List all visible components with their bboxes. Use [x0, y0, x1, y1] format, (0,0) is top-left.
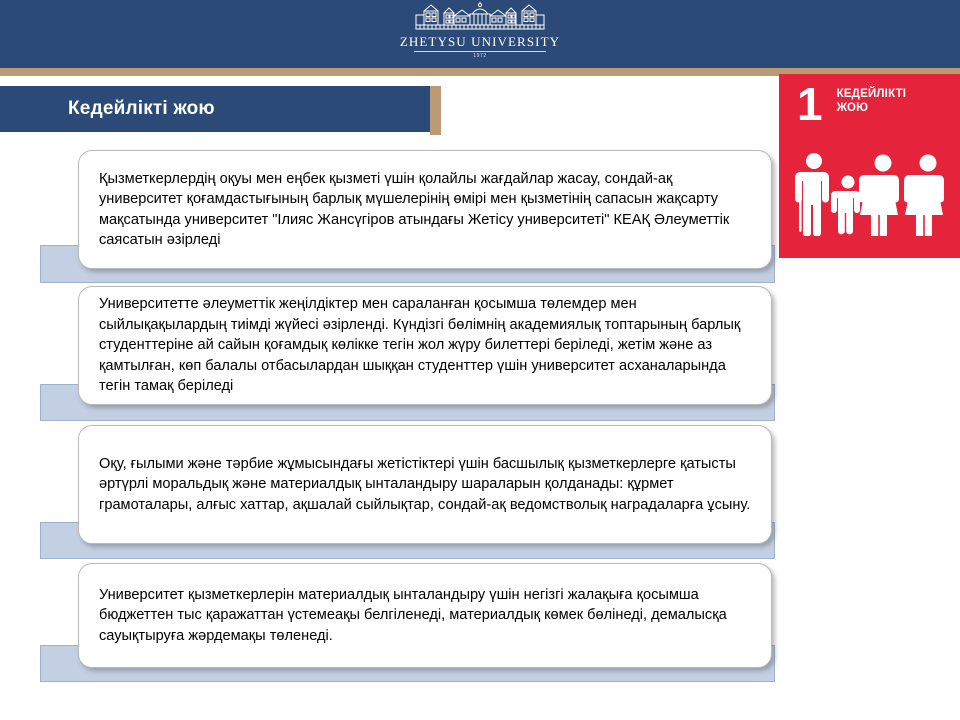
- university-building-icon: [404, 2, 556, 34]
- sdg-label-line-2: ЖОЮ: [837, 102, 869, 114]
- page-title-bar: Кедейлікті жою: [0, 86, 430, 132]
- sdg-goal-badge: 1 КЕДЕЙЛІКТІ ЖОЮ: [779, 74, 960, 258]
- family-group-icon: [793, 150, 945, 236]
- page-title: Кедейлікті жою: [0, 98, 215, 120]
- content-card[interactable]: Университет қызметкерлерін материалдық ы…: [78, 563, 772, 668]
- content-card-text: Университет қызметкерлерін материалдық ы…: [79, 585, 771, 647]
- content-card-text: Оқу, ғылыми және тәрбие жұмысындағы жеті…: [79, 454, 771, 516]
- university-name: ZHETYSU UNIVERSITY: [400, 34, 560, 49]
- sdg-badge-header: 1 КЕДЕЙЛІКТІ ЖОЮ: [797, 84, 906, 124]
- content-card-text: Қызметкерлердің оқуы мен еңбек қызметі ү…: [79, 169, 771, 251]
- logo-divider: [414, 51, 546, 52]
- content-card-text: Университетте әлеуметтік жеңілдіктер мен…: [79, 294, 771, 397]
- top-banner: ZHETYSU UNIVERSITY 1972: [0, 0, 960, 68]
- title-accent-strip: [430, 86, 441, 135]
- founded-year: 1972: [473, 53, 487, 59]
- content-card[interactable]: Оқу, ғылыми және тәрбие жұмысындағы жеті…: [78, 425, 772, 544]
- content-card[interactable]: Университетте әлеуметтік жеңілдіктер мен…: [78, 286, 772, 405]
- sdg-label: КЕДЕЙЛІКТІ ЖОЮ: [837, 87, 907, 115]
- university-logo: ZHETYSU UNIVERSITY 1972: [0, 2, 960, 59]
- sdg-label-line-1: КЕДЕЙЛІКТІ: [837, 88, 907, 100]
- content-card[interactable]: Қызметкерлердің оқуы мен еңбек қызметі ү…: [78, 150, 772, 269]
- sdg-number: 1: [797, 84, 823, 124]
